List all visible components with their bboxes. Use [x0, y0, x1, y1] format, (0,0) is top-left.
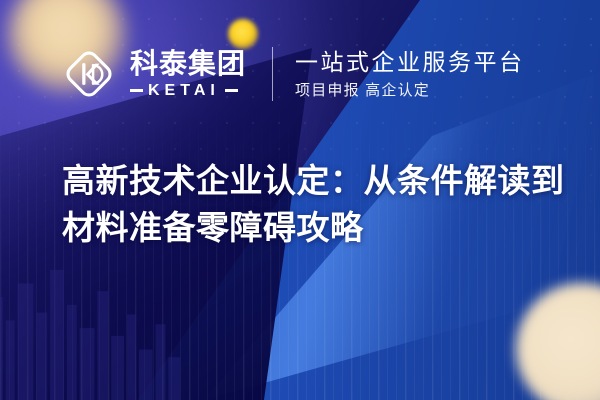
logo-wordmark: 科泰集团 KETAI — [130, 49, 246, 98]
ketai-diamond-logo-icon — [60, 45, 118, 103]
main-title-line-1: 高新技术企业认定：从条件解读到 — [62, 157, 542, 204]
promotional-banner: 科泰集团 KETAI 一站式企业服务平台 项目申报 高企认定 高新技术企业认定：… — [0, 0, 600, 400]
tagline-sub-text: 项目申报 高企认定 — [295, 82, 525, 99]
logo-dash-left-icon — [130, 89, 143, 92]
brand-header: 科泰集团 KETAI 一站式企业服务平台 项目申报 高企认定 — [60, 40, 525, 108]
logo-company-name-cn: 科泰集团 — [130, 49, 246, 78]
logo-company-name-en: KETAI — [148, 83, 220, 99]
logo-company-name-en-row: KETAI — [130, 83, 246, 99]
tagline-block: 一站式企业服务平台 项目申报 高企认定 — [295, 49, 525, 100]
logo-dash-right-icon — [225, 89, 238, 92]
header-vertical-divider — [272, 47, 273, 101]
main-title-line-2: 材料准备零障碍攻略 — [62, 204, 542, 251]
main-title: 高新技术企业认定：从条件解读到 材料准备零障碍攻略 — [62, 157, 542, 251]
tagline-main-text: 一站式企业服务平台 — [295, 49, 525, 75]
